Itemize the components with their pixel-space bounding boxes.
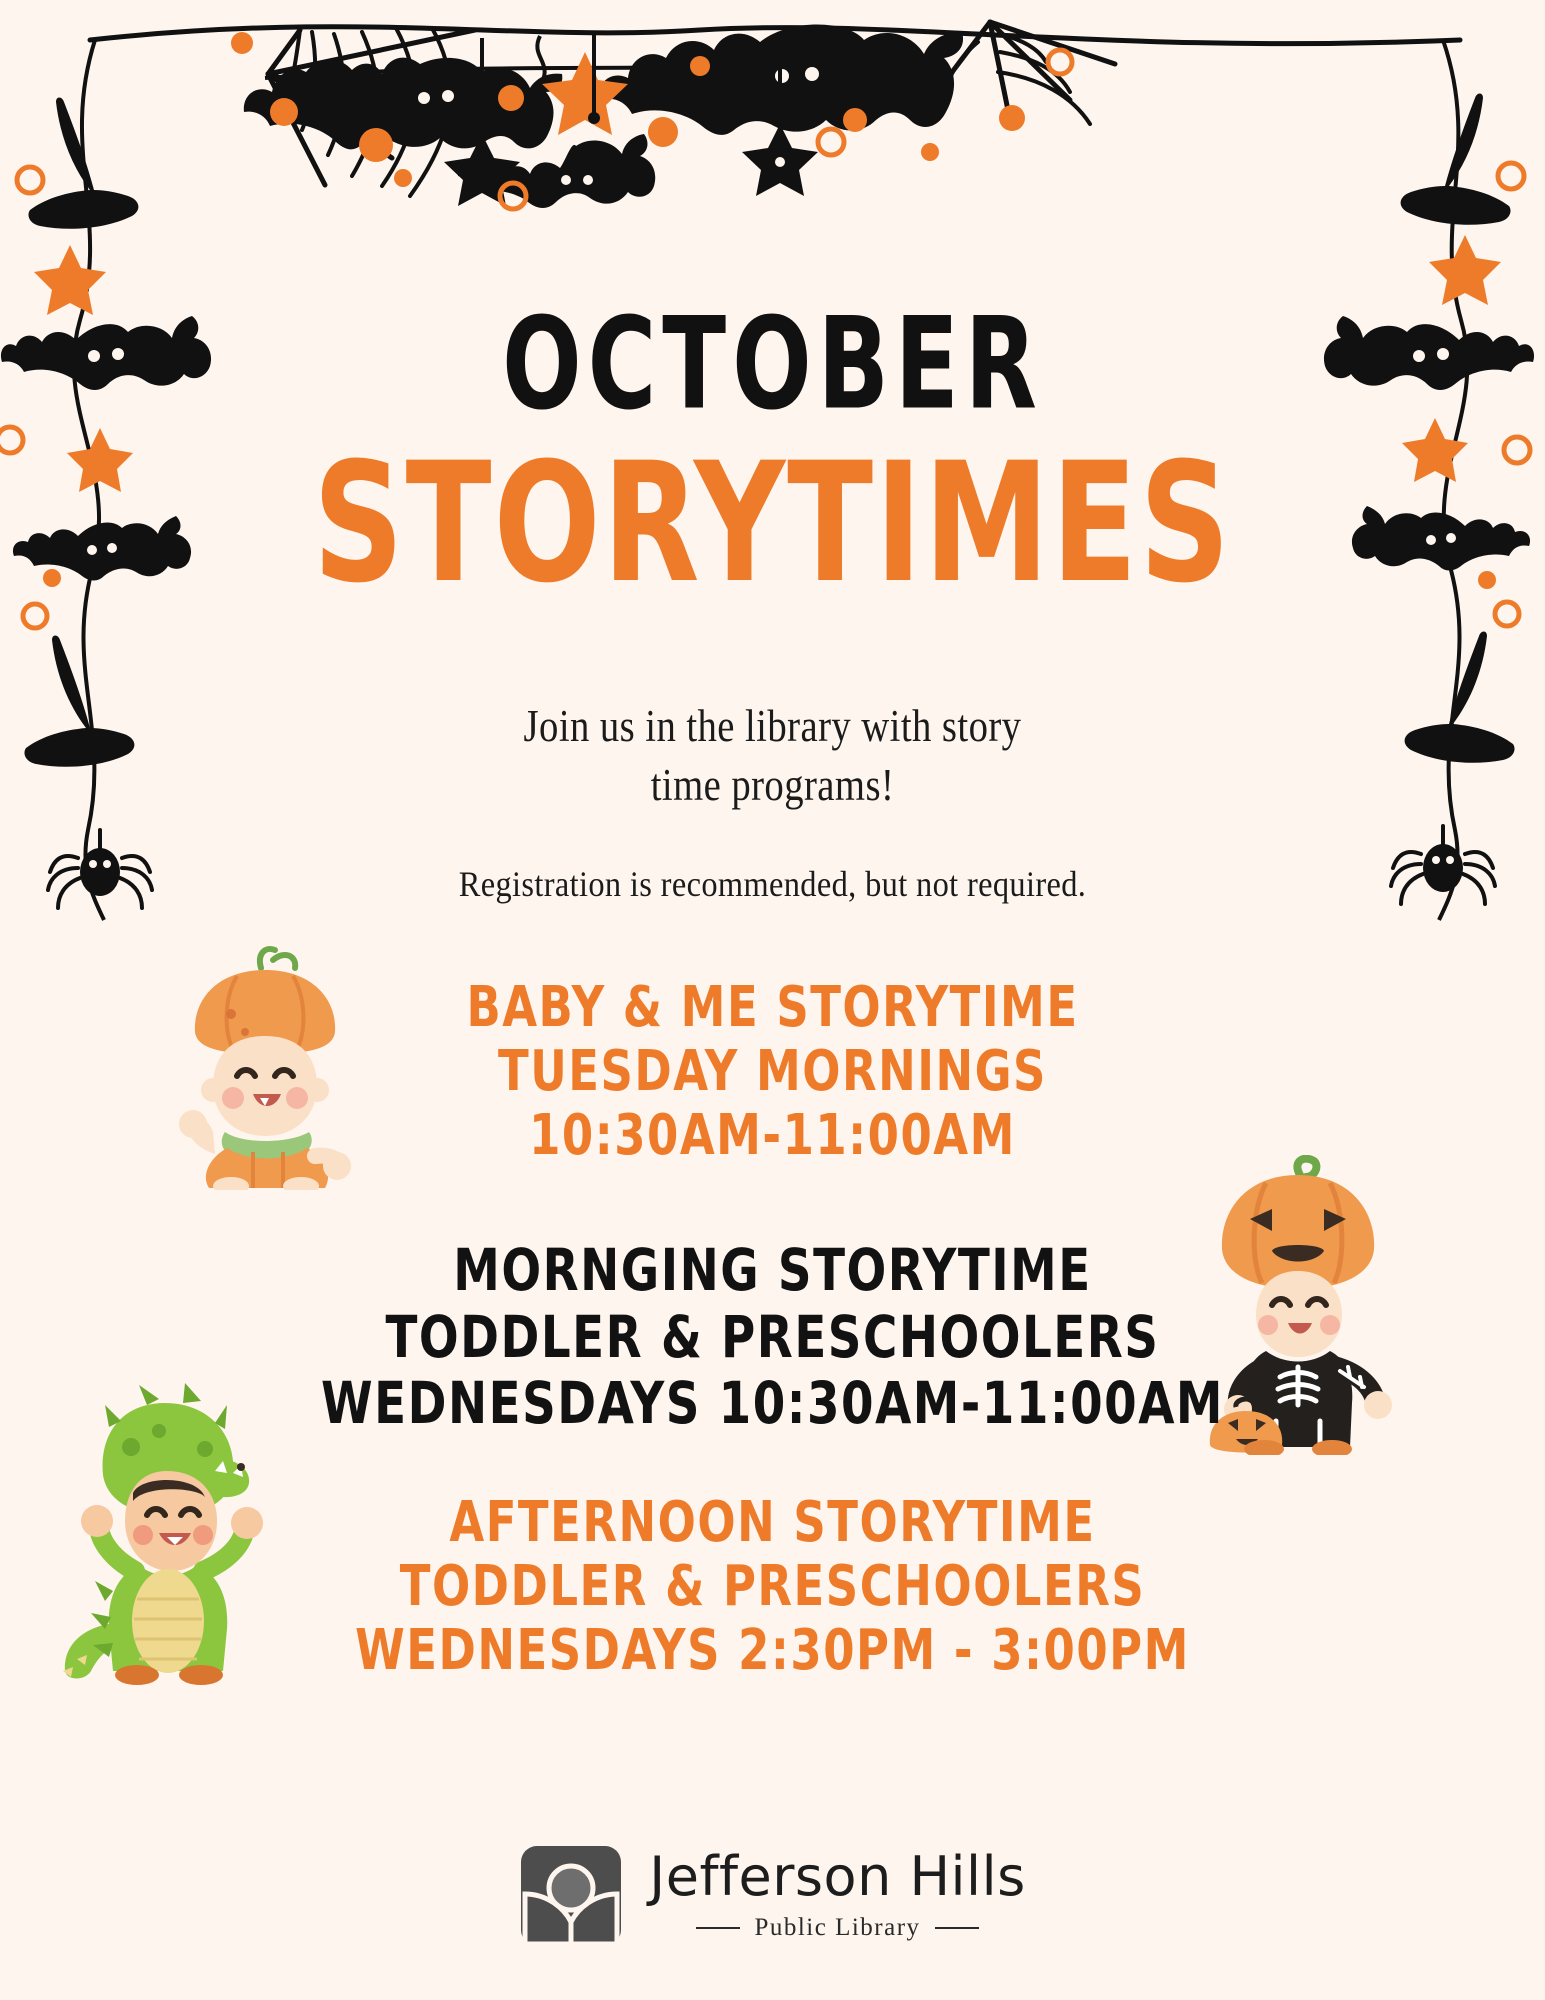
program-afternoon-time: WEDNESDAYS 2:30PM - 3:00PM xyxy=(0,1614,1545,1686)
top-garland-decoration xyxy=(0,0,1545,260)
library-logo-mark-icon xyxy=(519,1844,623,1948)
bat-right-icon xyxy=(599,25,963,135)
hanging-orange-star-icon xyxy=(537,36,628,135)
library-tagline: Public Library xyxy=(754,1914,920,1942)
intro-line-1: Join us in the library with story xyxy=(108,697,1437,756)
program-afternoon-title: AFTERNOON STORYTIME xyxy=(0,1486,1545,1558)
library-tagline-row: Public Library xyxy=(696,1914,978,1942)
library-logo-text: Jefferson Hills Public Library xyxy=(649,1850,1025,1942)
registration-note: Registration is recommended, but not req… xyxy=(77,863,1468,905)
program-baby-title: BABY & ME STORYTIME xyxy=(0,971,1545,1043)
program-morning-audience: TODDLER & PRESCHOOLERS xyxy=(0,1301,1545,1376)
program-afternoon-storytime: AFTERNOON STORYTIME TODDLER & PRESCHOOLE… xyxy=(0,1490,1545,1682)
witch-hat-icon xyxy=(28,98,138,229)
spiderweb-icon xyxy=(268,28,475,196)
page-title: STORYTIMES xyxy=(0,442,1545,607)
confetti-dots xyxy=(231,32,1072,209)
orange-star-icon-right xyxy=(1429,235,1501,305)
library-name: Jefferson Hills xyxy=(649,1850,1025,1904)
library-logo: Jefferson Hills Public Library xyxy=(0,1844,1545,1948)
intro-text: Join us in the library with story time p… xyxy=(0,697,1545,814)
program-baby-and-me: BABY & ME STORYTIME TUESDAY MORNINGS 10:… xyxy=(0,975,1545,1167)
poster-canvas: OCTOBER STORYTIMES Join us in the librar… xyxy=(0,0,1545,2000)
spiderweb-right-icon xyxy=(940,22,1115,124)
poster-heading-group: OCTOBER STORYTIMES xyxy=(0,300,1545,582)
logo-rule-right xyxy=(935,1927,979,1929)
witch-hat-icon-right xyxy=(1401,94,1511,225)
program-morning-title: MORNGING STORYTIME xyxy=(0,1234,1545,1309)
bat-icon xyxy=(244,58,562,150)
intro-line-2: time programs! xyxy=(108,756,1437,815)
page-eyebrow: OCTOBER xyxy=(0,300,1545,427)
hanging-bat-icon xyxy=(458,34,655,208)
program-afternoon-audience: TODDLER & PRESCHOOLERS xyxy=(0,1550,1545,1622)
hanging-star-icon xyxy=(444,38,520,206)
program-baby-day: TUESDAY MORNINGS xyxy=(0,1035,1545,1107)
hanging-star-right-icon xyxy=(742,32,818,196)
logo-rule-left xyxy=(696,1927,740,1929)
